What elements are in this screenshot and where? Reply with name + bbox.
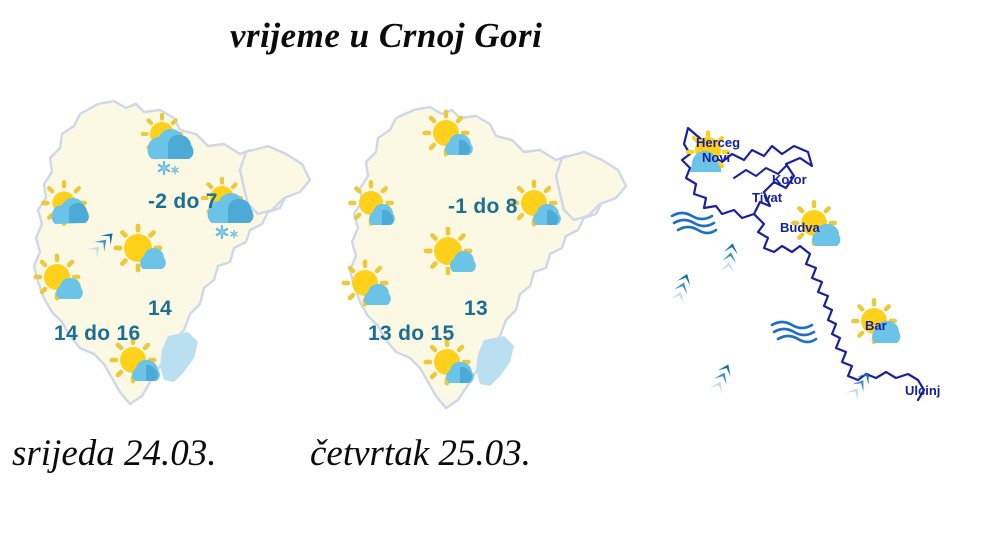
city-label-herceg-novi: Herceg bbox=[696, 135, 740, 150]
wave-mark-1 bbox=[672, 213, 716, 233]
city-label-ulcinj: Ulcinj bbox=[905, 383, 940, 398]
temp-label-coastal-range: 14 do 16 bbox=[54, 322, 140, 346]
forecast-map-day-1[interactable]: -2 do 7 14 14 do 16 bbox=[18, 92, 318, 432]
temp-label-central: 14 bbox=[148, 297, 172, 321]
wind-arrow-3 bbox=[710, 361, 735, 393]
wind-arrow-4 bbox=[846, 369, 874, 401]
coastal-detail-map[interactable]: Herceg Novi Kotor Tivat Budva Bar Ulcinj bbox=[660, 110, 1000, 420]
weather-forecast-canvas: vrijeme u Crnoj Gori bbox=[0, 0, 1000, 554]
city-label-kotor: Kotor bbox=[772, 172, 807, 187]
city-label-tivat: Tivat bbox=[752, 190, 782, 205]
city-label-bar: Bar bbox=[865, 318, 887, 333]
page-title: vrijeme u Crnoj Gori bbox=[230, 16, 542, 56]
day-caption-1: srijeda 24.03. bbox=[12, 432, 217, 475]
wind-arrow-2 bbox=[671, 272, 694, 304]
forecast-map-day-2[interactable]: -1 do 8 13 13 do 15 bbox=[340, 100, 632, 430]
montenegro-northeast-lobe bbox=[556, 152, 626, 220]
temp-label-central: 13 bbox=[464, 297, 488, 321]
temp-label-inland-range: -1 do 8 bbox=[448, 195, 518, 219]
wind-arrow-1 bbox=[721, 242, 740, 273]
city-label-budva: Budva bbox=[780, 220, 820, 235]
temp-label-coastal-range: 13 do 15 bbox=[368, 322, 454, 346]
city-label-herceg-novi-second-line: Novi bbox=[702, 150, 730, 165]
temp-label-inland-range: -2 do 7 bbox=[148, 190, 218, 214]
day-caption-2: četvrtak 25.03. bbox=[310, 432, 531, 475]
wave-mark-2 bbox=[772, 322, 816, 342]
montenegro-northeast-lobe bbox=[240, 146, 310, 214]
